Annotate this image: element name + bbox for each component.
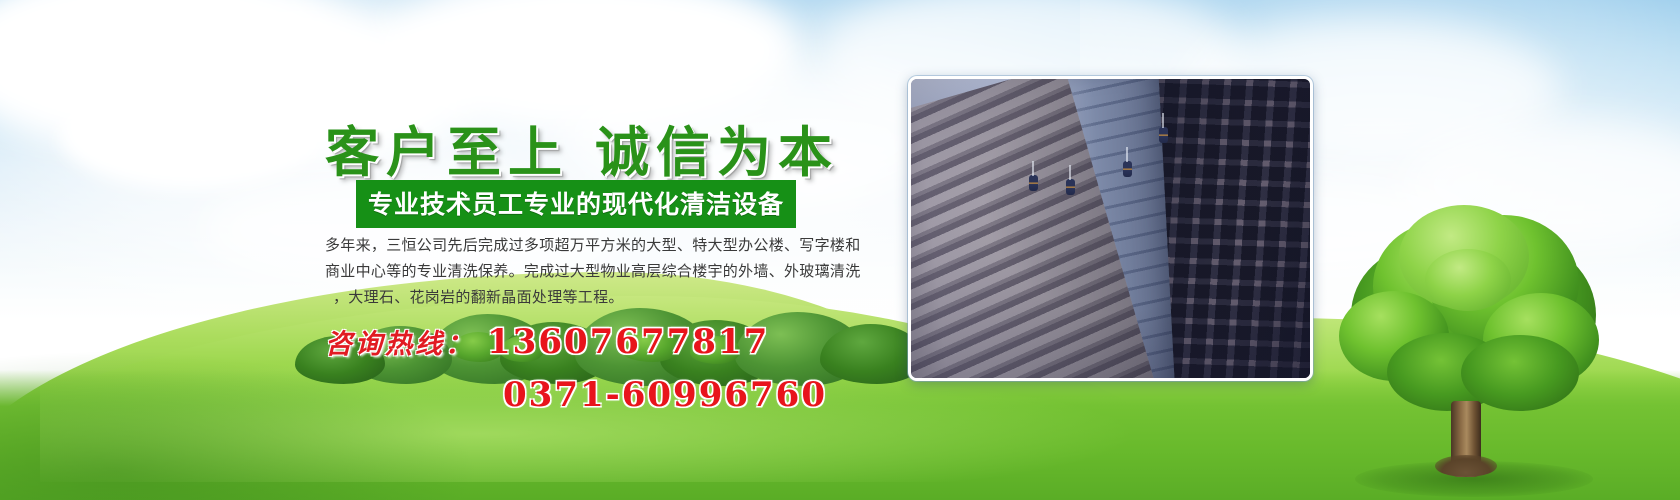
description-paragraph: 多年来，三恒公司先后完成过多项超万平方米的大型、特大型办公楼、写字楼和 商业中心… bbox=[325, 232, 885, 310]
headline-part-1: 客户至上 bbox=[325, 120, 569, 184]
promo-banner: 客户至上诚信为本 专业技术员工专业的现代化清洁设备 多年来，三恒公司先后完成过多… bbox=[0, 0, 1680, 500]
hotline-mobile-number[interactable]: 13607677817 bbox=[487, 322, 769, 362]
description-line-3: ，大理石、花岗岩的翻新晶面处理等工程。 bbox=[325, 284, 885, 310]
photo-vignette bbox=[911, 79, 1310, 378]
hotline-label: 咨询热线： bbox=[325, 322, 475, 361]
tree-illustration bbox=[1333, 205, 1605, 475]
headline-part-2: 诚信为本 bbox=[595, 120, 839, 184]
hotline-primary-row: 咨询热线： 13607677817 bbox=[325, 322, 827, 362]
building-photo[interactable] bbox=[908, 76, 1313, 381]
hotline-landline-number[interactable]: 0371-60996760 bbox=[503, 375, 827, 415]
description-line-1: 多年来，三恒公司先后完成过多项超万平方米的大型、特大型办公楼、写字楼和 bbox=[325, 232, 885, 258]
description-line-2: 商业中心等的专业清洗保养。完成过大型物业高层综合楼宇的外墙、外玻璃清洗 bbox=[325, 258, 885, 284]
subtitle-text: 专业技术员工专业的现代化清洁设备 bbox=[368, 190, 784, 219]
banner-content: 客户至上诚信为本 专业技术员工专业的现代化清洁设备 多年来，三恒公司先后完成过多… bbox=[0, 0, 900, 500]
tree-trunk bbox=[1451, 401, 1481, 477]
page-title: 客户至上诚信为本 bbox=[325, 108, 839, 187]
hotline-block: 咨询热线： 13607677817 0371-60996760 bbox=[325, 322, 827, 415]
building-photo-inner bbox=[911, 79, 1310, 378]
subtitle-bar: 专业技术员工专业的现代化清洁设备 bbox=[356, 180, 796, 228]
